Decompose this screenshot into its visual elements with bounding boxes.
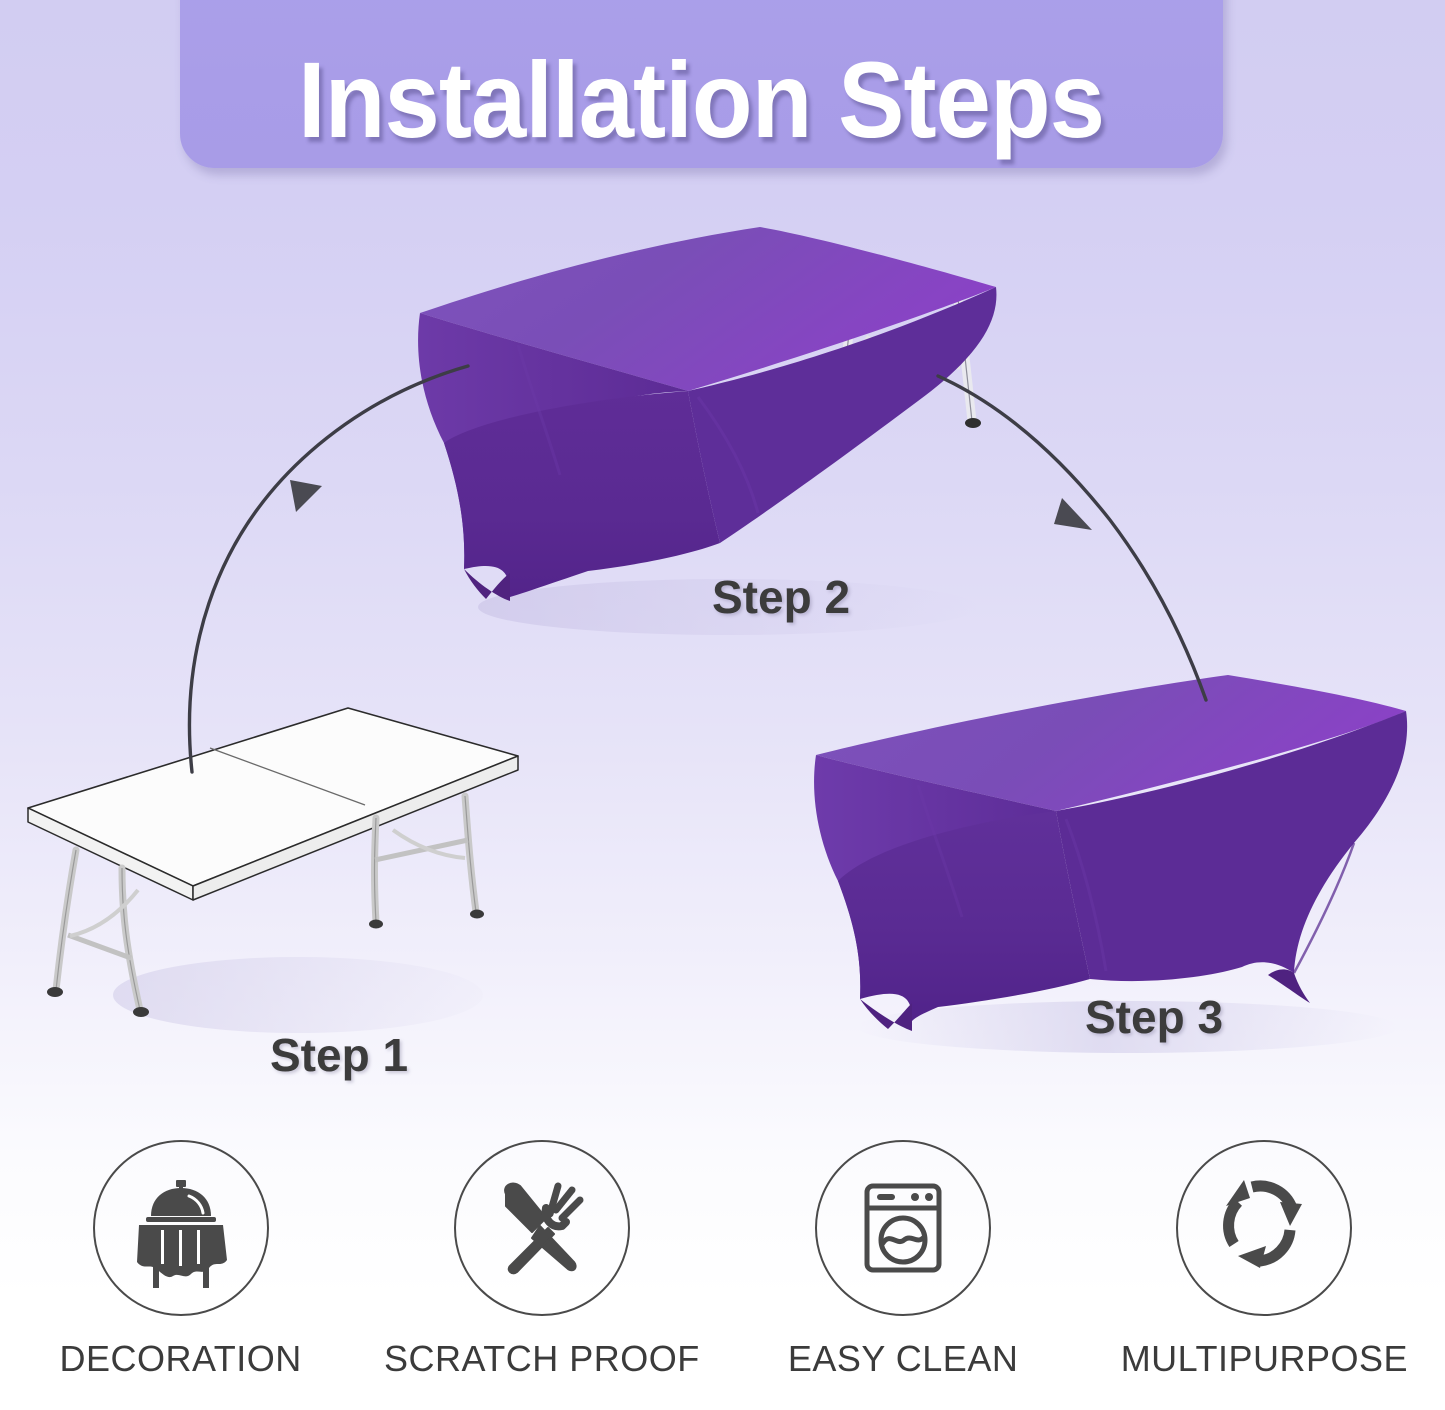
feature-label-easy-clean: EASY CLEAN (788, 1338, 1018, 1380)
feature-scratch-proof: SCRATCH PROOF (361, 1140, 722, 1410)
step-2-label: Step 2 (712, 570, 850, 624)
feature-label-multipurpose: MULTIPURPOSE (1121, 1338, 1408, 1380)
feature-circle-easy-clean (815, 1140, 991, 1316)
feature-decoration: DECORATION (0, 1140, 361, 1410)
feature-label-scratch-proof: SCRATCH PROOF (384, 1338, 700, 1380)
feature-circle-scratch-proof (454, 1140, 630, 1316)
arrow-step2-to-step3-icon (930, 370, 1270, 730)
recycle-arrows-icon (1204, 1168, 1324, 1288)
feature-circle-multipurpose (1176, 1140, 1352, 1316)
title-banner: Installation Steps (180, 0, 1223, 168)
arrow-step1-to-step2-icon (150, 360, 490, 780)
table-cloth-cloche-icon (121, 1168, 241, 1288)
washing-machine-icon (843, 1168, 963, 1288)
infographic-page: Installation Steps (0, 0, 1445, 1410)
page-title: Installation Steps (298, 46, 1104, 154)
feature-easy-clean: EASY CLEAN (723, 1140, 1084, 1410)
feature-label-decoration: DECORATION (59, 1338, 301, 1380)
step-1-label: Step 1 (270, 1028, 408, 1082)
step-3-label: Step 3 (1085, 990, 1223, 1044)
feature-multipurpose: MULTIPURPOSE (1084, 1140, 1445, 1410)
knife-fork-crossed-icon (482, 1168, 602, 1288)
feature-strip: DECORATION (0, 1140, 1445, 1410)
feature-circle-decoration (93, 1140, 269, 1316)
